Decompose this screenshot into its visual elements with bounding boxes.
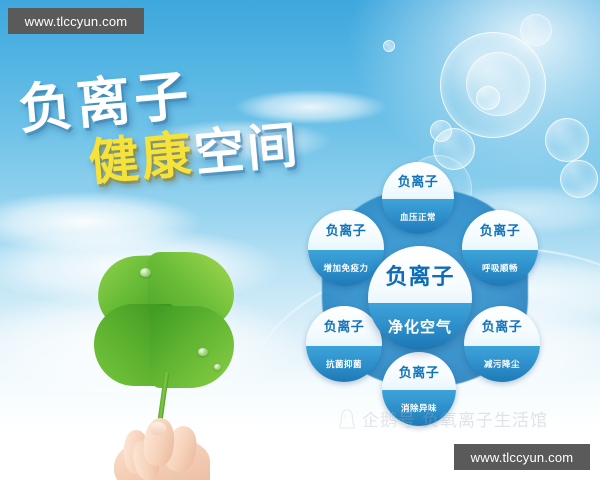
brand-watermark: 企鹅号 负氧离子生活馆 bbox=[338, 406, 548, 431]
dew-drop-icon bbox=[140, 268, 151, 277]
poster-canvas: 负离子 健康空间 负离子 血压正常 bbox=[0, 0, 600, 480]
node-title: 负离子 bbox=[324, 316, 365, 335]
center-title: 负离子 bbox=[385, 259, 454, 291]
hand-fingernail bbox=[150, 422, 166, 435]
node-title: 负离子 bbox=[480, 220, 521, 239]
soap-bubble-icon bbox=[466, 52, 530, 116]
node-top-half: 负离子 bbox=[382, 162, 454, 199]
node-title: 负离子 bbox=[326, 220, 367, 239]
brand-platform-label: 企鹅号 bbox=[362, 406, 416, 431]
watermark-top: www.tlccyun.com bbox=[8, 8, 144, 34]
clover-leaf bbox=[150, 306, 234, 388]
diagram-node-lower-left[interactable]: 负离子 抗菌抑菌 bbox=[306, 306, 382, 382]
node-title: 负离子 bbox=[482, 316, 523, 335]
node-subtitle: 减污降尘 bbox=[484, 358, 520, 370]
node-subtitle: 血压正常 bbox=[400, 211, 436, 223]
hand-illustration bbox=[108, 412, 226, 480]
soap-bubble-icon bbox=[383, 40, 395, 52]
diagram-node-lower-right[interactable]: 负离子 减污降尘 bbox=[464, 306, 540, 382]
node-subtitle: 增加免疫力 bbox=[323, 262, 368, 274]
node-title: 负离子 bbox=[399, 362, 440, 381]
node-subtitle: 呼吸顺畅 bbox=[482, 262, 518, 274]
soap-bubble-icon bbox=[476, 86, 500, 110]
center-subtitle: 净化空气 bbox=[388, 316, 452, 337]
node-title: 负离子 bbox=[398, 171, 439, 190]
node-subtitle: 抗菌抑菌 bbox=[326, 358, 362, 370]
brand-name-label: 负氧离子生活馆 bbox=[422, 406, 548, 431]
penguin-icon bbox=[338, 409, 356, 429]
watermark-bottom: www.tlccyun.com bbox=[454, 444, 590, 470]
diagram-node-upper-right[interactable]: 负离子 呼吸顺畅 bbox=[462, 210, 538, 286]
clover-illustration bbox=[86, 244, 286, 454]
diagram-node-center[interactable]: 负离子 净化空气 bbox=[368, 246, 472, 350]
soap-bubble-icon bbox=[520, 14, 552, 46]
dew-drop-icon bbox=[198, 348, 208, 356]
soap-bubble-icon bbox=[545, 118, 589, 162]
diagram-node-top[interactable]: 负离子 血压正常 bbox=[382, 162, 454, 234]
benefits-diagram: 负离子 血压正常 负离子 呼吸顺畅 负离子 减污降尘 负离子 bbox=[286, 162, 576, 412]
dew-drop-icon bbox=[214, 364, 221, 370]
